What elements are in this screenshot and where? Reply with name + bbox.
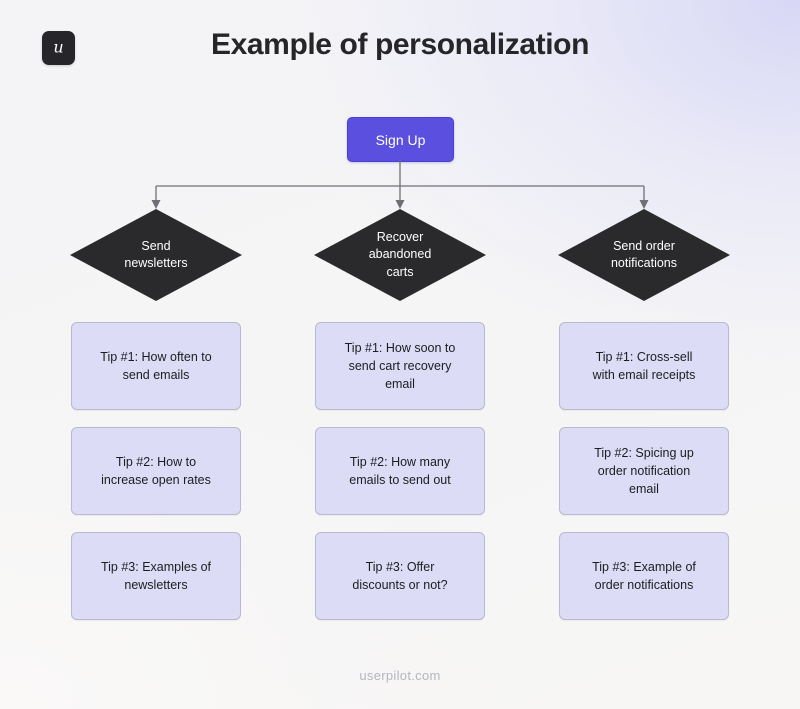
footer-brand: userpilot.com [0, 668, 800, 683]
node-send-order-notifications[interactable]: Send order notifications [558, 209, 730, 301]
arrowhead-right [640, 200, 649, 209]
node-send-order-notifications-label: Send order notifications [558, 209, 730, 301]
tip-card[interactable]: Tip #2: How to increase open rates [71, 427, 241, 515]
diagram-canvas: u Example of personalization Sign Up Sen… [0, 0, 800, 709]
node-recover-abandoned-carts-label: Recover abandoned carts [314, 209, 486, 301]
node-recover-abandoned-carts[interactable]: Recover abandoned carts [314, 209, 486, 301]
tip-card[interactable]: Tip #2: Spicing up order notification em… [559, 427, 729, 515]
tip-card[interactable]: Tip #1: How often to send emails [71, 322, 241, 410]
page-title: Example of personalization [0, 28, 800, 62]
tip-card[interactable]: Tip #1: How soon to send cart recovery e… [315, 322, 485, 410]
tip-card[interactable]: Tip #3: Examples of newsletters [71, 532, 241, 620]
tip-card[interactable]: Tip #2: How many emails to send out [315, 427, 485, 515]
tip-card[interactable]: Tip #3: Example of order notifications [559, 532, 729, 620]
node-send-newsletters-label: Send newsletters [70, 209, 242, 301]
arrowhead-left [152, 200, 161, 209]
node-sign-up-label: Sign Up [376, 132, 426, 148]
tip-card[interactable]: Tip #1: Cross-sell with email receipts [559, 322, 729, 410]
node-send-newsletters[interactable]: Send newsletters [70, 209, 242, 301]
tip-card[interactable]: Tip #3: Offer discounts or not? [315, 532, 485, 620]
node-sign-up[interactable]: Sign Up [347, 117, 454, 162]
arrowhead-middle [396, 200, 405, 209]
